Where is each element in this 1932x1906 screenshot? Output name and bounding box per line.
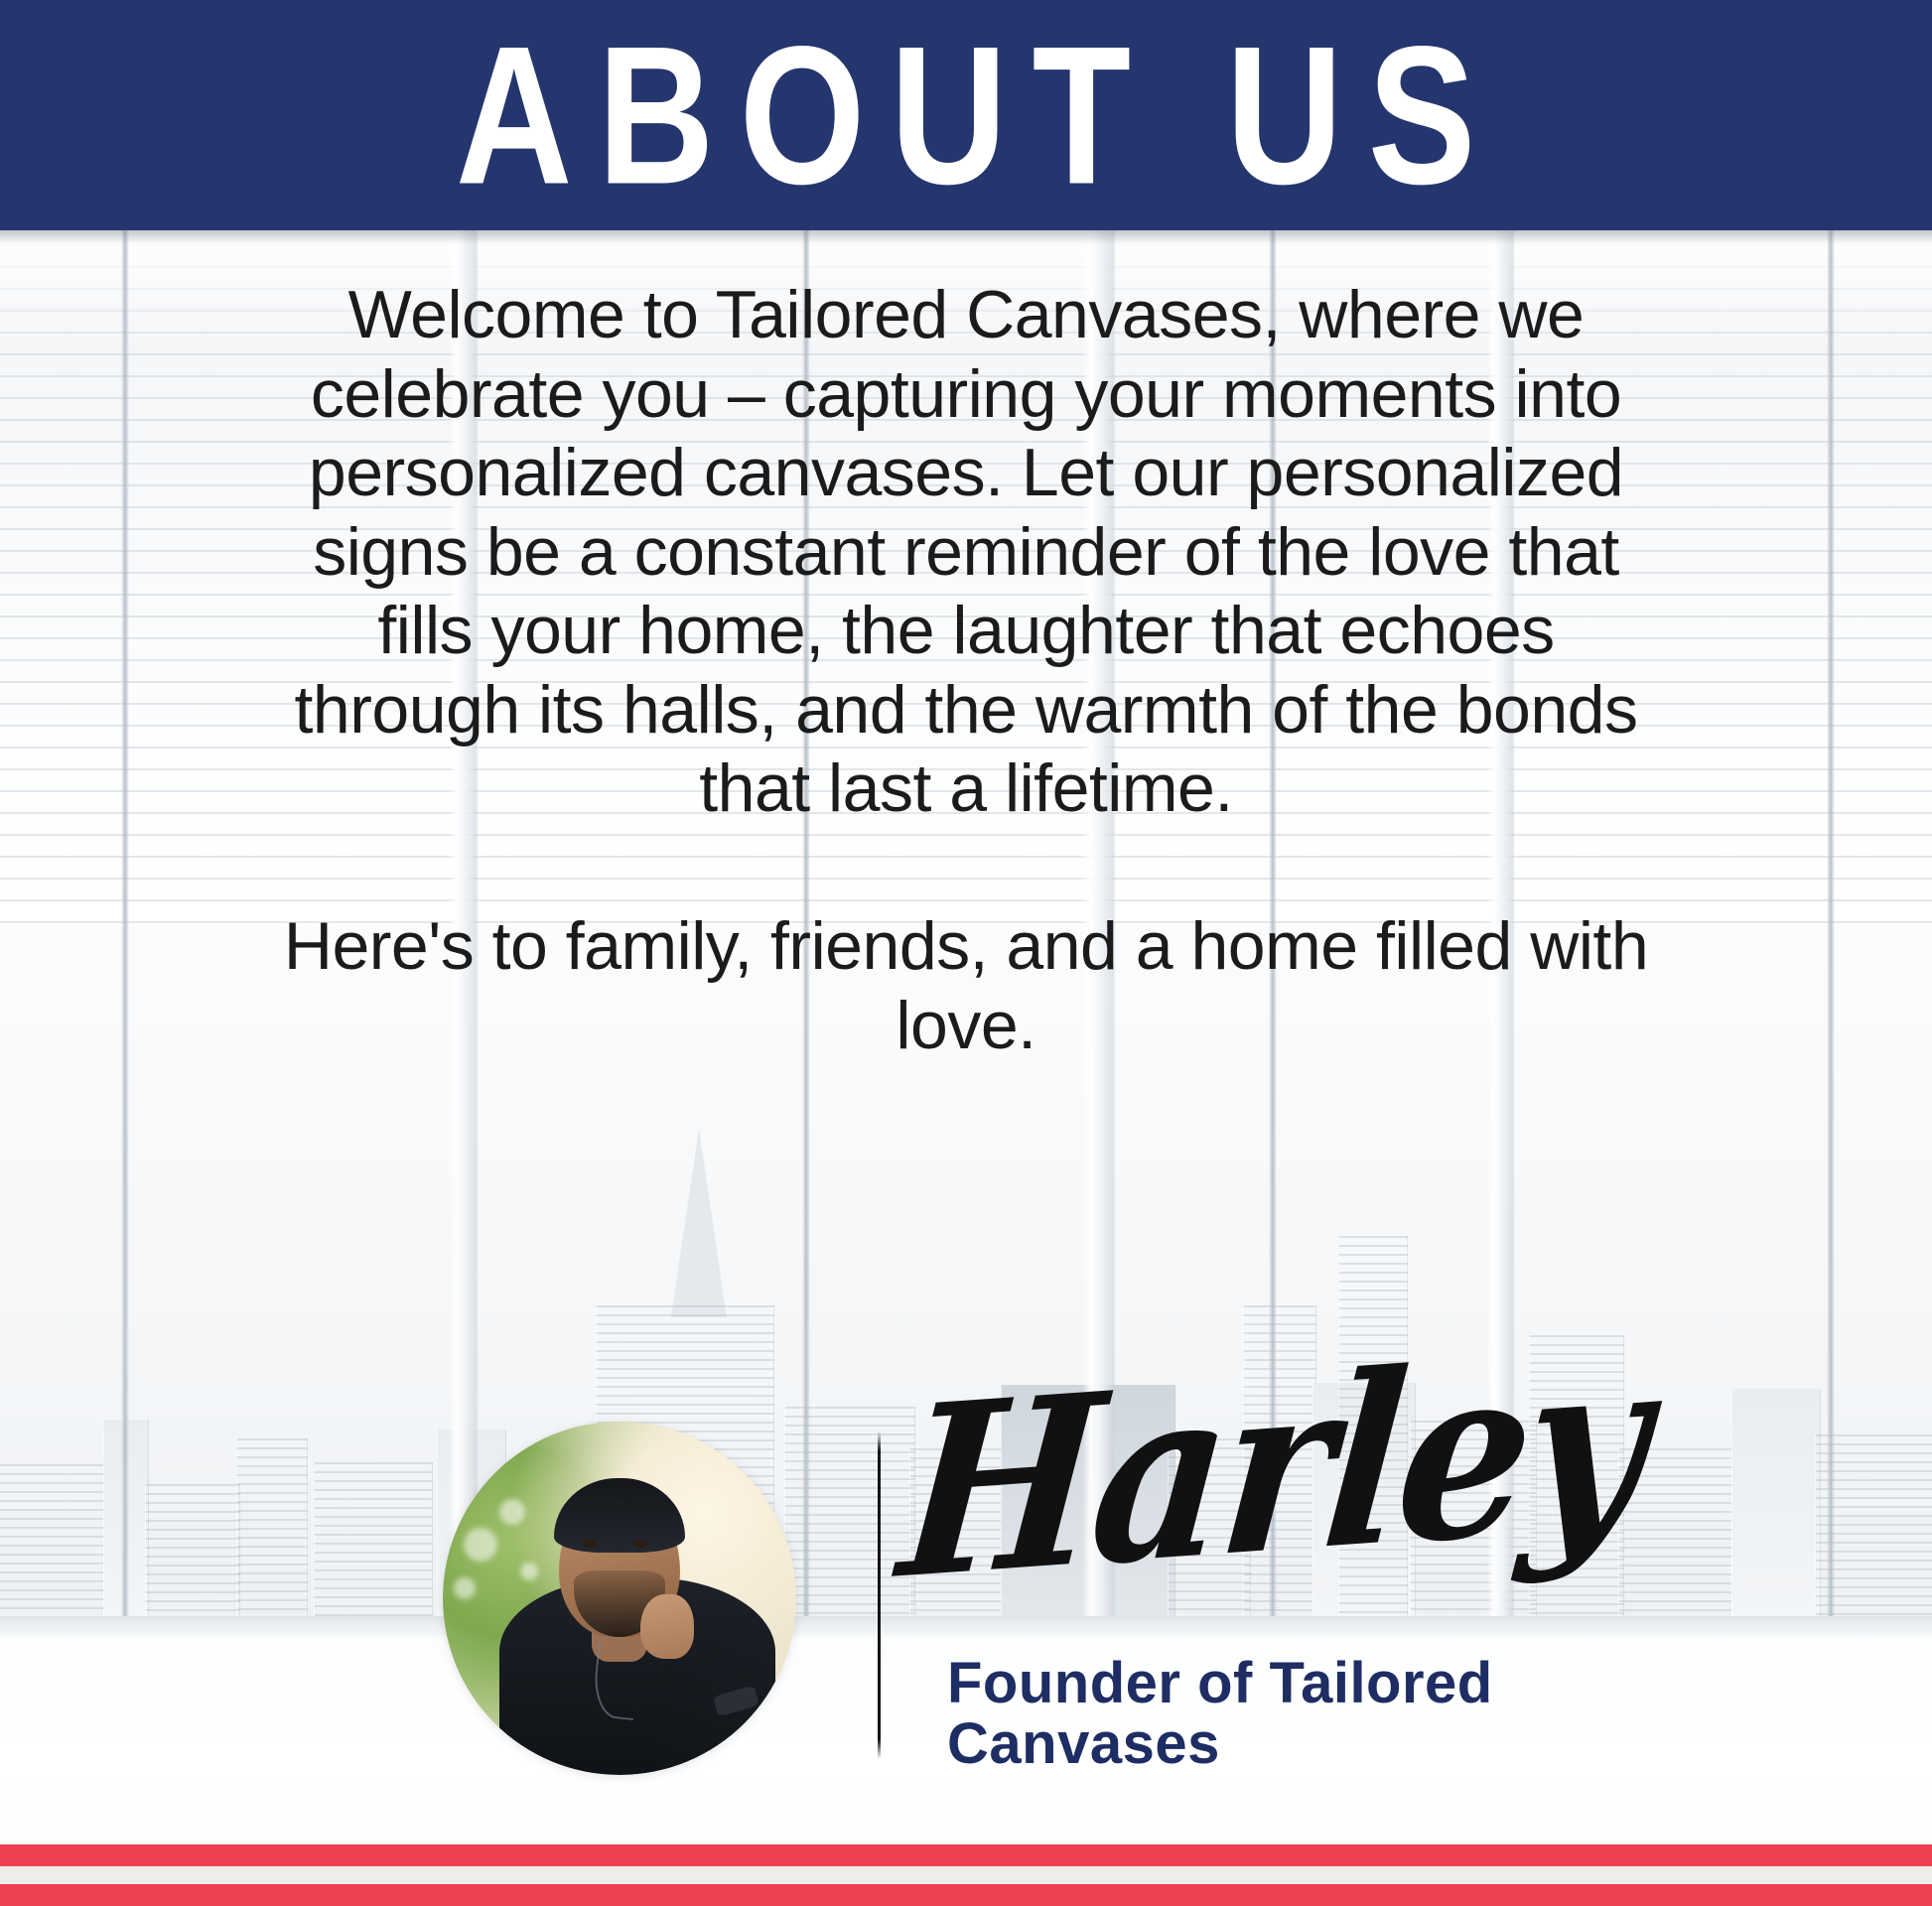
footer-bar-bottom xyxy=(0,1884,1932,1906)
page-title: ABOUT US xyxy=(431,17,1501,213)
body-paragraph-1: Welcome to Tailored Canvases, where we c… xyxy=(261,276,1671,829)
about-us-poster: ABOUT US Welcome to Tailored Canvases, w… xyxy=(0,0,1932,1906)
footer-bar-gap xyxy=(0,1866,1932,1884)
founder-signature: Harley xyxy=(894,1324,1651,1611)
about-us-body-copy: Welcome to Tailored Canvases, where we c… xyxy=(261,276,1671,1065)
bokeh-dot xyxy=(454,1577,476,1599)
bokeh-dot xyxy=(464,1528,497,1562)
footer-bar-top xyxy=(0,1844,1932,1866)
portrait-eye-left xyxy=(583,1540,598,1547)
header-band: ABOUT US xyxy=(0,0,1932,230)
avatar xyxy=(443,1422,796,1775)
body-paragraph-2: Here's to family, friends, and a home fi… xyxy=(261,907,1671,1065)
spire-tower xyxy=(671,1129,727,1317)
portrait-hand xyxy=(640,1594,693,1658)
portrait-eye-right xyxy=(633,1540,648,1547)
founder-portrait-photo xyxy=(443,1422,796,1775)
founder-role-label: Founder of Tailored Canvases xyxy=(947,1653,1583,1775)
header-drop-shadow xyxy=(0,230,1932,244)
vertical-divider xyxy=(878,1431,881,1759)
founder-block: Harley Founder of Tailored Canvases xyxy=(0,1410,1932,1827)
